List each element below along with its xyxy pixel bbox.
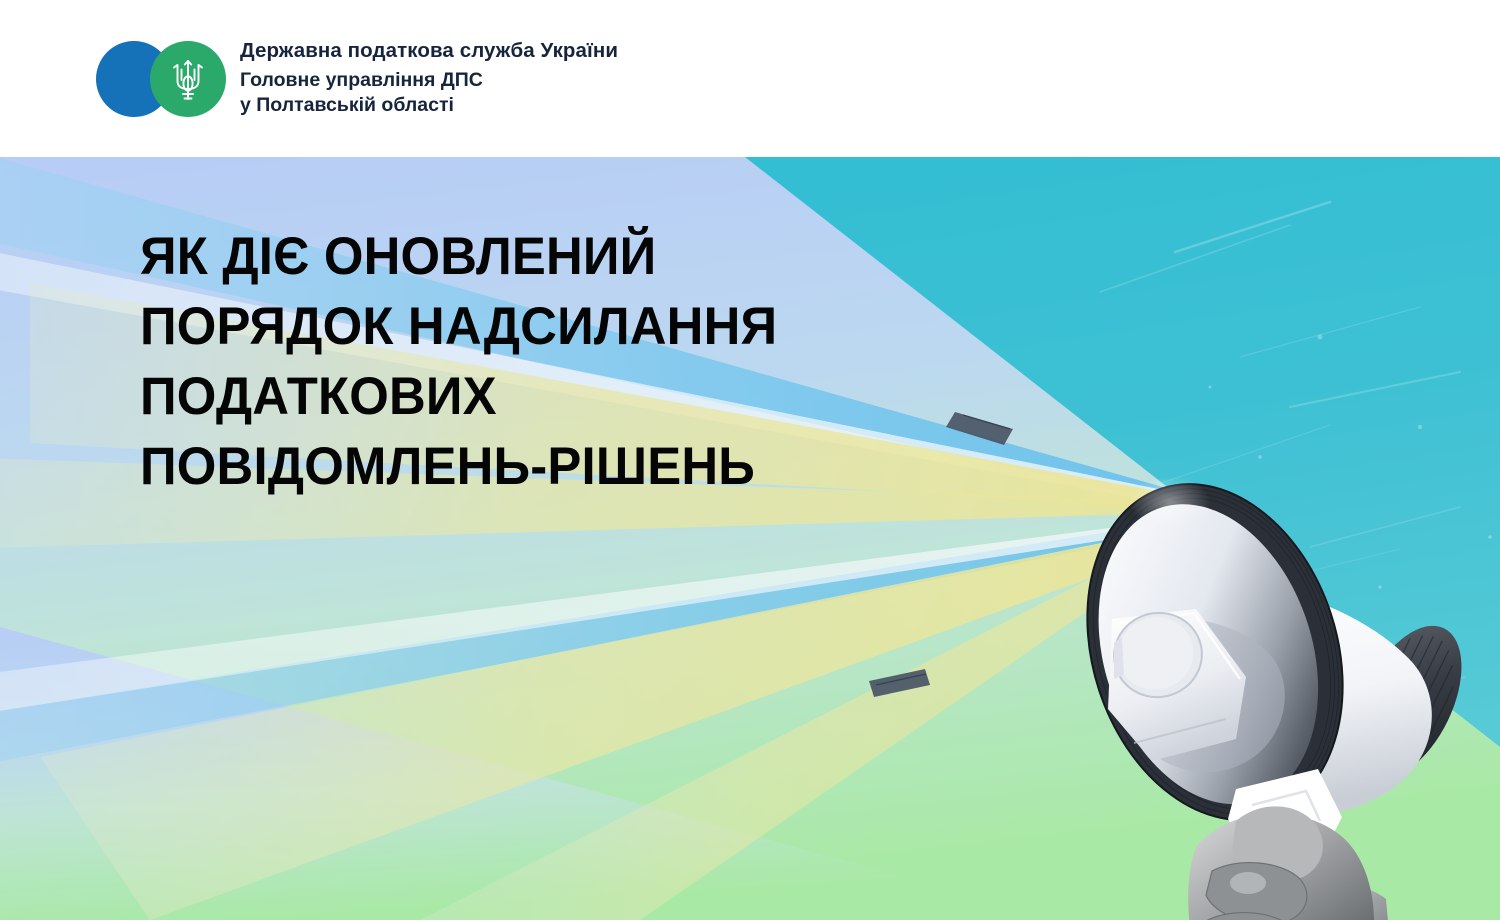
poster: ЯК ДІЄ ОНОВЛЕНИЙ ПОРЯДОК НАДСИЛАННЯ ПОДА…: [0, 0, 1500, 920]
headline-line-3: ПОДАТКОВИХ: [140, 362, 777, 432]
headline-line-2: ПОРЯДОК НАДСИЛАННЯ: [140, 292, 777, 362]
ukraine-trident-icon: [150, 41, 226, 117]
headline-line-1: ЯК ДІЄ ОНОВЛЕНИЙ: [140, 222, 777, 292]
site-header: Державна податкова служба України Головн…: [0, 0, 1500, 157]
department-name: Головне управління ДПС у Полтавській обл…: [240, 68, 618, 119]
department-line-2: у Полтавській області: [240, 93, 618, 119]
agency-logo[interactable]: [96, 41, 226, 117]
banner-headline: ЯК ДІЄ ОНОВЛЕНИЙ ПОРЯДОК НАДСИЛАННЯ ПОДА…: [140, 222, 777, 502]
organization-name: Державна податкова служба України: [240, 38, 618, 64]
headline-line-4: ПОВІДОМЛЕНЬ-РІШЕНЬ: [140, 432, 777, 502]
department-line-1: Головне управління ДПС: [240, 68, 618, 94]
brand-block[interactable]: Державна податкова служба України Головн…: [96, 38, 618, 119]
brand-text-block: Державна податкова служба України Головн…: [240, 38, 618, 119]
